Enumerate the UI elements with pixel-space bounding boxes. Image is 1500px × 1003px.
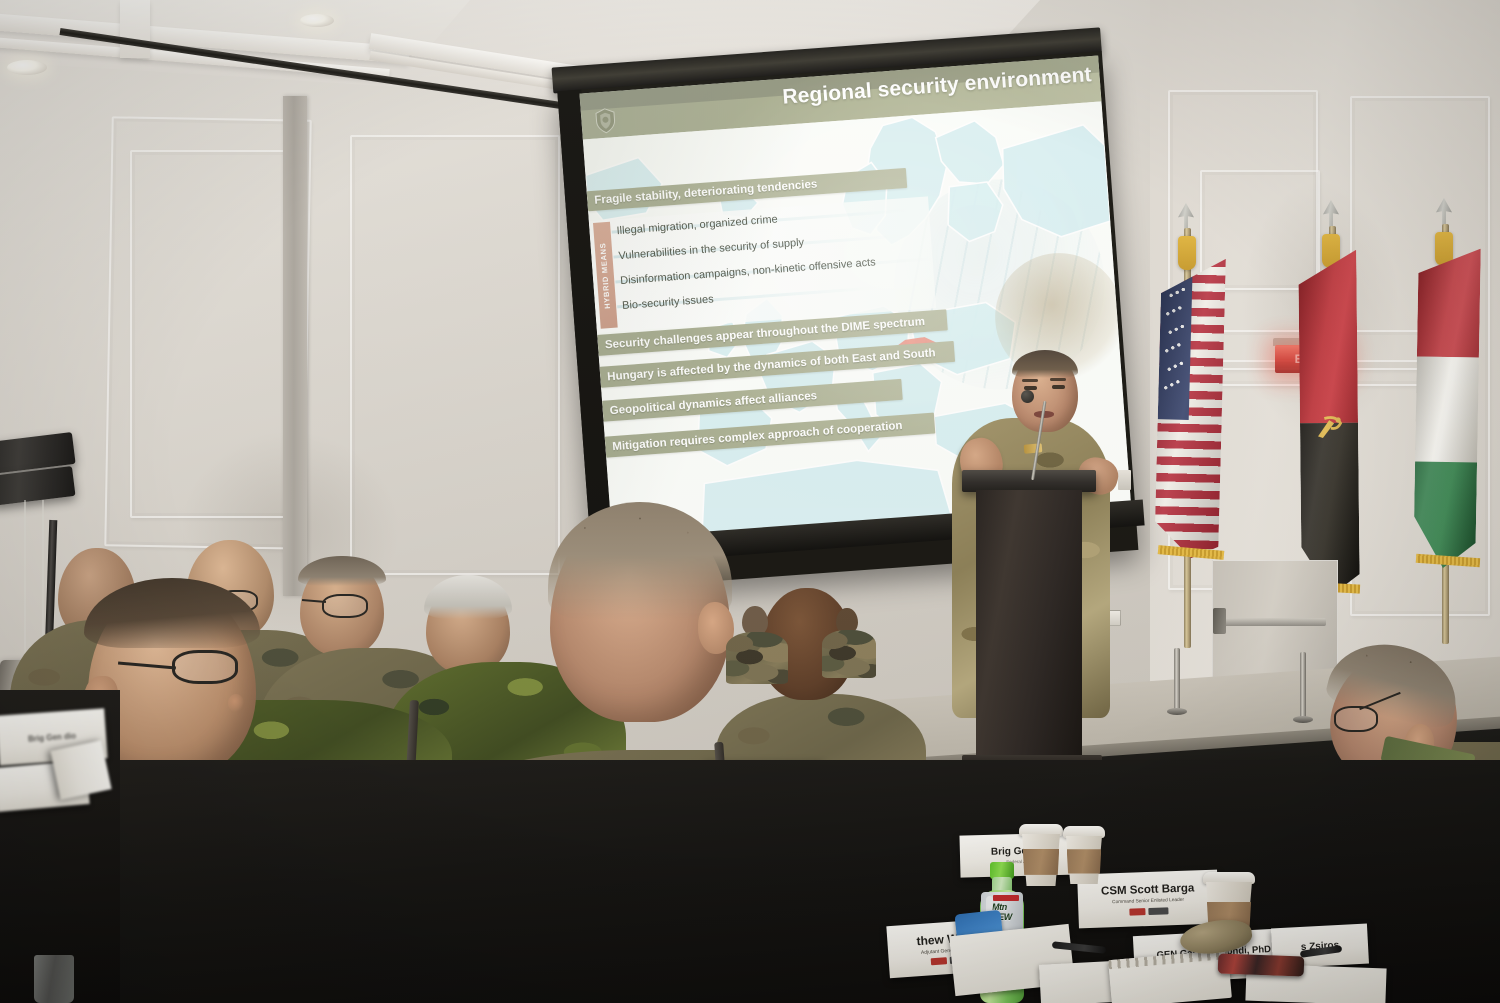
flag-fold-shading — [1298, 250, 1360, 596]
podium-top — [962, 470, 1096, 492]
stanchion-base — [1167, 708, 1187, 715]
hybrid-means-label: HYBRID MEANS — [598, 242, 612, 309]
speaker-brow-left — [1022, 379, 1038, 382]
logo-mark-red — [930, 957, 946, 965]
placard-logo-icon — [1129, 907, 1168, 915]
flag-fold-shading — [1413, 247, 1481, 568]
flag-cloth — [1413, 247, 1481, 568]
flag-cloth — [1154, 257, 1226, 559]
podium-column — [976, 490, 1082, 760]
conference-briefing-photo: Regional security environment — [0, 0, 1500, 1003]
cup-sleeve — [1023, 849, 1059, 875]
drinking-glass — [34, 955, 74, 1003]
speaker-brow-right — [1050, 378, 1066, 381]
crash-bar-icon[interactable] — [1218, 618, 1326, 626]
military-crest-icon — [593, 107, 619, 135]
downlight-icon — [300, 14, 334, 27]
person-nose — [228, 694, 244, 712]
stanchion-base — [1293, 716, 1313, 723]
flag-fold-shading — [1154, 257, 1226, 559]
downlight-icon — [7, 60, 47, 75]
partition-column — [283, 96, 307, 596]
wall-switch-plate[interactable] — [1118, 470, 1131, 490]
person-uniform — [726, 632, 788, 684]
speaker-eye-right — [1052, 385, 1065, 389]
stanchion-post — [1300, 652, 1306, 718]
glasses-icon — [1334, 706, 1378, 732]
placard-left-c — [50, 740, 111, 800]
bottle-brand-stripe — [993, 895, 1019, 901]
crash-bar-end — [1213, 608, 1226, 634]
spiral-notepad — [1108, 950, 1232, 1003]
coffee-cup — [1066, 826, 1102, 884]
microphone-head-icon — [1021, 390, 1034, 403]
coffee-cup — [1022, 824, 1060, 886]
ceremonial-knife — [1218, 954, 1305, 977]
cup-sleeve — [1067, 849, 1102, 873]
logo-mark-red — [1129, 908, 1145, 916]
glasses-icon — [172, 650, 238, 684]
logo-mark-gray — [1148, 907, 1168, 915]
stanchion-post — [1174, 648, 1180, 710]
flag-cord — [1178, 236, 1196, 270]
ceiling-beam — [120, 0, 150, 58]
wall-panel-inner — [130, 150, 290, 518]
glasses-icon — [322, 594, 368, 618]
podium — [968, 470, 1090, 770]
person-uniform — [822, 630, 876, 678]
flag-cloth — [1298, 250, 1360, 596]
